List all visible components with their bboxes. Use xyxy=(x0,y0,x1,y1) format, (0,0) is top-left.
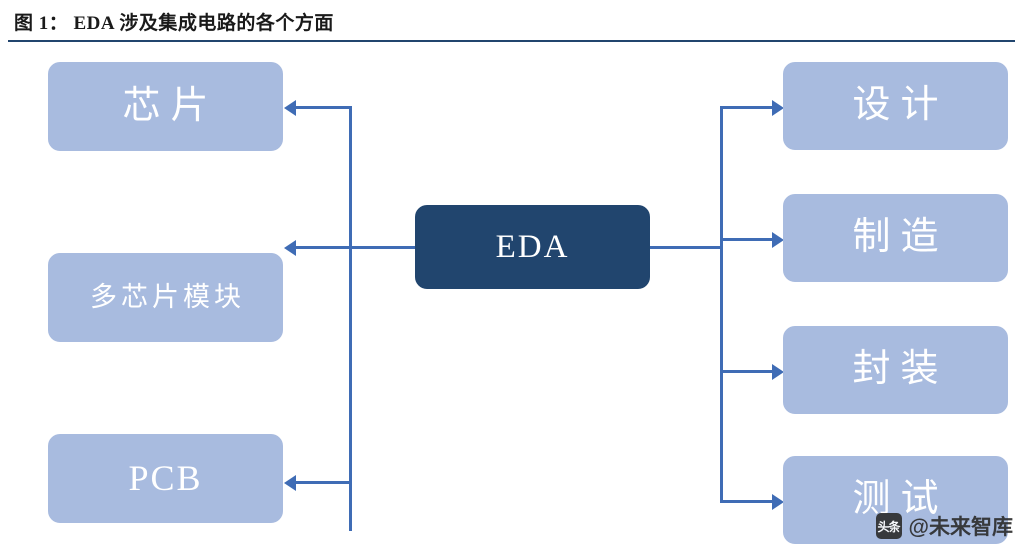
node-center-eda[interactable]: EDA xyxy=(415,205,650,289)
node-left-chip[interactable]: 芯片 xyxy=(48,62,283,151)
right-branch-line-4 xyxy=(720,500,775,503)
left-trunk-line xyxy=(349,106,352,531)
left-arrow-3-icon xyxy=(284,475,296,491)
node-right-design-label: 设计 xyxy=(842,85,948,127)
watermark-text: @未来智库 xyxy=(909,511,1013,541)
node-right-design[interactable]: 设计 xyxy=(783,62,1008,150)
node-left-pcb-label: PCB xyxy=(128,459,202,499)
node-left-chip-label: 芯片 xyxy=(112,86,218,128)
node-right-manufacturing-label: 制造 xyxy=(842,217,948,259)
left-arrow-2-icon xyxy=(284,240,296,256)
diagram-canvas: 芯片 多芯片模块 PCB EDA 设计 制造 封装 测试 xyxy=(0,44,1023,547)
center-to-right-line xyxy=(648,246,723,249)
right-branch-line-1 xyxy=(720,106,775,109)
right-trunk-line xyxy=(720,106,723,501)
left-arrow-1-icon xyxy=(284,100,296,116)
left-branch-line-3 xyxy=(296,481,351,484)
toutiao-logo-icon: 头条 xyxy=(876,513,902,539)
node-left-multichip-module[interactable]: 多芯片模块 xyxy=(48,253,283,342)
watermark: 头条 @未来智库 xyxy=(876,511,1013,541)
figure-page: 图 1： EDA 涉及集成电路的各个方面 芯片 xyxy=(0,0,1023,547)
title-divider xyxy=(8,40,1015,42)
node-center-eda-label: EDA xyxy=(496,229,570,265)
node-left-multichip-module-label: 多芯片模块 xyxy=(86,283,245,313)
right-branch-line-2 xyxy=(720,238,775,241)
page-title: 图 1： EDA 涉及集成电路的各个方面 xyxy=(14,8,334,35)
right-branch-line-3 xyxy=(720,370,775,373)
node-right-manufacturing[interactable]: 制造 xyxy=(783,194,1008,282)
node-left-pcb[interactable]: PCB xyxy=(48,434,283,523)
left-branch-line-2 xyxy=(296,246,351,249)
figure-title-bar: 图 1： EDA 涉及集成电路的各个方面 xyxy=(0,0,1023,44)
node-right-packaging[interactable]: 封装 xyxy=(783,326,1008,414)
left-branch-line-1 xyxy=(296,106,351,109)
center-to-left-line xyxy=(349,246,419,249)
node-right-packaging-label: 封装 xyxy=(842,349,948,391)
